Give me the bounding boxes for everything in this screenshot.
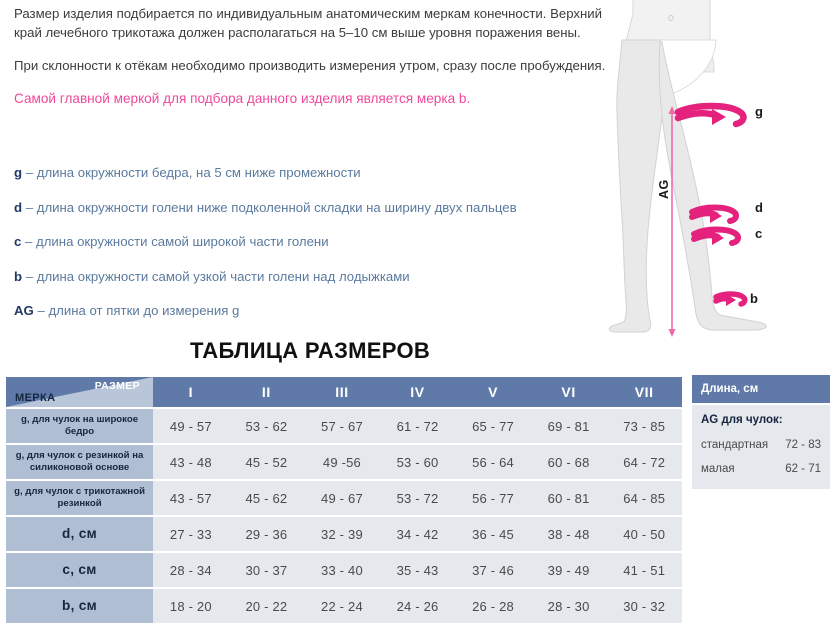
- cell-value: 41 - 51: [606, 553, 682, 587]
- cell-value: 65 - 77: [455, 409, 531, 443]
- legend-key-g: g: [14, 165, 22, 180]
- cell-value: 34 - 42: [380, 517, 456, 551]
- cell-value: 37 - 46: [455, 553, 531, 587]
- table-header-row: РАЗМЕР МЕРКА I II III IV V VI VII: [6, 377, 682, 407]
- female-legs-diagram-icon: [600, 0, 836, 340]
- cell-value: 22 - 24: [304, 589, 380, 623]
- header-size-3: III: [304, 377, 380, 407]
- table-row: g, для чулок с резинкой на силиконовой о…: [6, 445, 682, 479]
- length-panel-body: AG для чулок: стандартная 72 - 83 малая …: [692, 405, 830, 489]
- table-row: c, см 28 - 34 30 - 37 33 - 40 35 - 43 37…: [6, 553, 682, 587]
- figure-label-ag: AG: [657, 179, 671, 199]
- cell-value: 29 - 36: [229, 517, 305, 551]
- legend-text-ag: длина от пятки до измерения g: [48, 303, 239, 318]
- length-panel-title: AG для чулок:: [701, 414, 821, 426]
- legend-item-b: b – длина окружности самой узкой части г…: [14, 268, 614, 286]
- legend-dash: –: [26, 165, 33, 180]
- length-row-value: 62 - 71: [785, 463, 821, 475]
- table-row: g, для чулок с трикотажной резинкой 43 -…: [6, 481, 682, 515]
- length-row-standard: стандартная 72 - 83: [701, 439, 821, 451]
- cell-value: 26 - 28: [455, 589, 531, 623]
- header-size-1: I: [153, 377, 229, 407]
- cell-value: 30 - 32: [606, 589, 682, 623]
- table-row: b, см 18 - 20 20 - 22 22 - 24 24 - 26 26…: [6, 589, 682, 623]
- cell-value: 43 - 48: [153, 445, 229, 479]
- row-label: g, для чулок на широкое бедро: [6, 409, 153, 443]
- table-body: g, для чулок на широкое бедро 49 - 57 53…: [6, 409, 682, 623]
- cell-value: 56 - 77: [455, 481, 531, 515]
- header-size-2: II: [229, 377, 305, 407]
- cell-value: 27 - 33: [153, 517, 229, 551]
- figure-label-b: b: [750, 291, 758, 306]
- length-row-name: стандартная: [701, 439, 768, 451]
- legend-dash: –: [26, 269, 33, 284]
- row-label: g, для чулок с трикотажной резинкой: [6, 481, 153, 515]
- table-head: РАЗМЕР МЕРКА I II III IV V VI VII: [6, 377, 682, 407]
- row-label: g, для чулок с резинкой на силиконовой о…: [6, 445, 153, 479]
- cell-value: 40 - 50: [606, 517, 682, 551]
- row-label: b, см: [6, 589, 153, 623]
- legend-text-d: длина окружности голени ниже подколенной…: [37, 200, 517, 215]
- header-corner-cell: РАЗМЕР МЕРКА: [6, 377, 153, 407]
- length-row-value: 72 - 83: [785, 439, 821, 451]
- legend-text-c: длина окружности самой широкой части гол…: [36, 234, 329, 249]
- cell-value: 73 - 85: [606, 409, 682, 443]
- cell-value: 45 - 52: [229, 445, 305, 479]
- length-panel-header: Длина, см: [692, 375, 830, 403]
- row-label: d, см: [6, 517, 153, 551]
- cell-value: 28 - 30: [531, 589, 607, 623]
- measure-band-g: [678, 106, 743, 125]
- legend-dash: –: [37, 303, 44, 318]
- legend-item-g: g – длина окружности бедра, на 5 см ниже…: [14, 164, 614, 182]
- cell-value: 53 - 60: [380, 445, 456, 479]
- table-row: d, см 27 - 33 29 - 36 32 - 39 34 - 42 36…: [6, 517, 682, 551]
- legend-key-ag: AG: [14, 303, 34, 318]
- cell-value: 49 - 57: [153, 409, 229, 443]
- legend-key-b: b: [14, 269, 22, 284]
- cell-value: 43 - 57: [153, 481, 229, 515]
- intro-highlight-note: Самой главной меркой для подбора данного…: [14, 89, 614, 108]
- cell-value: 60 - 81: [531, 481, 607, 515]
- cell-value: 45 - 62: [229, 481, 305, 515]
- legend-text-g: длина окружности бедра, на 5 см ниже про…: [37, 165, 361, 180]
- measure-band-b: [716, 294, 745, 306]
- length-panel: Длина, см AG для чулок: стандартная 72 -…: [692, 375, 830, 489]
- header-size-6: VI: [531, 377, 607, 407]
- row-label: c, см: [6, 553, 153, 587]
- header-size-7: VII: [606, 377, 682, 407]
- cell-value: 64 - 72: [606, 445, 682, 479]
- figure-label-g: g: [755, 104, 763, 119]
- cell-value: 32 - 39: [304, 517, 380, 551]
- page-title: ТАБЛИЦА РАЗМЕРОВ: [0, 338, 620, 364]
- cell-value: 61 - 72: [380, 409, 456, 443]
- size-table: РАЗМЕР МЕРКА I II III IV V VI VII g, для…: [6, 375, 682, 625]
- measurement-legend: g – длина окружности бедра, на 5 см ниже…: [14, 164, 614, 337]
- cell-value: 57 - 67: [304, 409, 380, 443]
- cell-value: 35 - 43: [380, 553, 456, 587]
- cell-value: 20 - 22: [229, 589, 305, 623]
- cell-value: 49 -56: [304, 445, 380, 479]
- legend-text-b: длина окружности самой узкой части голен…: [37, 269, 410, 284]
- cell-value: 38 - 48: [531, 517, 607, 551]
- legend-item-c: c – длина окружности самой широкой части…: [14, 233, 614, 251]
- intro-text-block: Размер изделия подбирается по индивидуал…: [14, 4, 614, 126]
- cell-value: 56 - 64: [455, 445, 531, 479]
- header-label-merka: МЕРКА: [15, 392, 56, 404]
- cell-value: 39 - 49: [531, 553, 607, 587]
- legend-item-d: d – длина окружности голени ниже подколе…: [14, 199, 614, 217]
- legend-key-d: d: [14, 200, 22, 215]
- cell-value: 28 - 34: [153, 553, 229, 587]
- length-row-small: малая 62 - 71: [701, 463, 821, 475]
- length-row-name: малая: [701, 463, 735, 475]
- header-size-4: IV: [380, 377, 456, 407]
- cell-value: 53 - 62: [229, 409, 305, 443]
- cell-value: 18 - 20: [153, 589, 229, 623]
- table-row: g, для чулок на широкое бедро 49 - 57 53…: [6, 409, 682, 443]
- intro-paragraph-1: Размер изделия подбирается по индивидуал…: [14, 4, 614, 42]
- cell-value: 24 - 26: [380, 589, 456, 623]
- cell-value: 33 - 40: [304, 553, 380, 587]
- intro-paragraph-2: При склонности к отёкам необходимо произ…: [14, 56, 614, 75]
- header-size-5: V: [455, 377, 531, 407]
- leg-measurement-illustration: g d c b AG: [600, 0, 836, 340]
- legend-key-c: c: [14, 234, 21, 249]
- cell-value: 60 - 68: [531, 445, 607, 479]
- figure-label-d: d: [755, 200, 763, 215]
- header-label-razmer: РАЗМЕР: [95, 380, 140, 392]
- cell-value: 36 - 45: [455, 517, 531, 551]
- legend-dash: –: [26, 200, 33, 215]
- cell-value: 49 - 67: [304, 481, 380, 515]
- legend-dash: –: [25, 234, 32, 249]
- cell-value: 30 - 37: [229, 553, 305, 587]
- figure-label-c: c: [755, 226, 762, 241]
- legend-item-ag: AG – длина от пятки до измерения g: [14, 302, 614, 320]
- cell-value: 69 - 81: [531, 409, 607, 443]
- cell-value: 64 - 85: [606, 481, 682, 515]
- cell-value: 53 - 72: [380, 481, 456, 515]
